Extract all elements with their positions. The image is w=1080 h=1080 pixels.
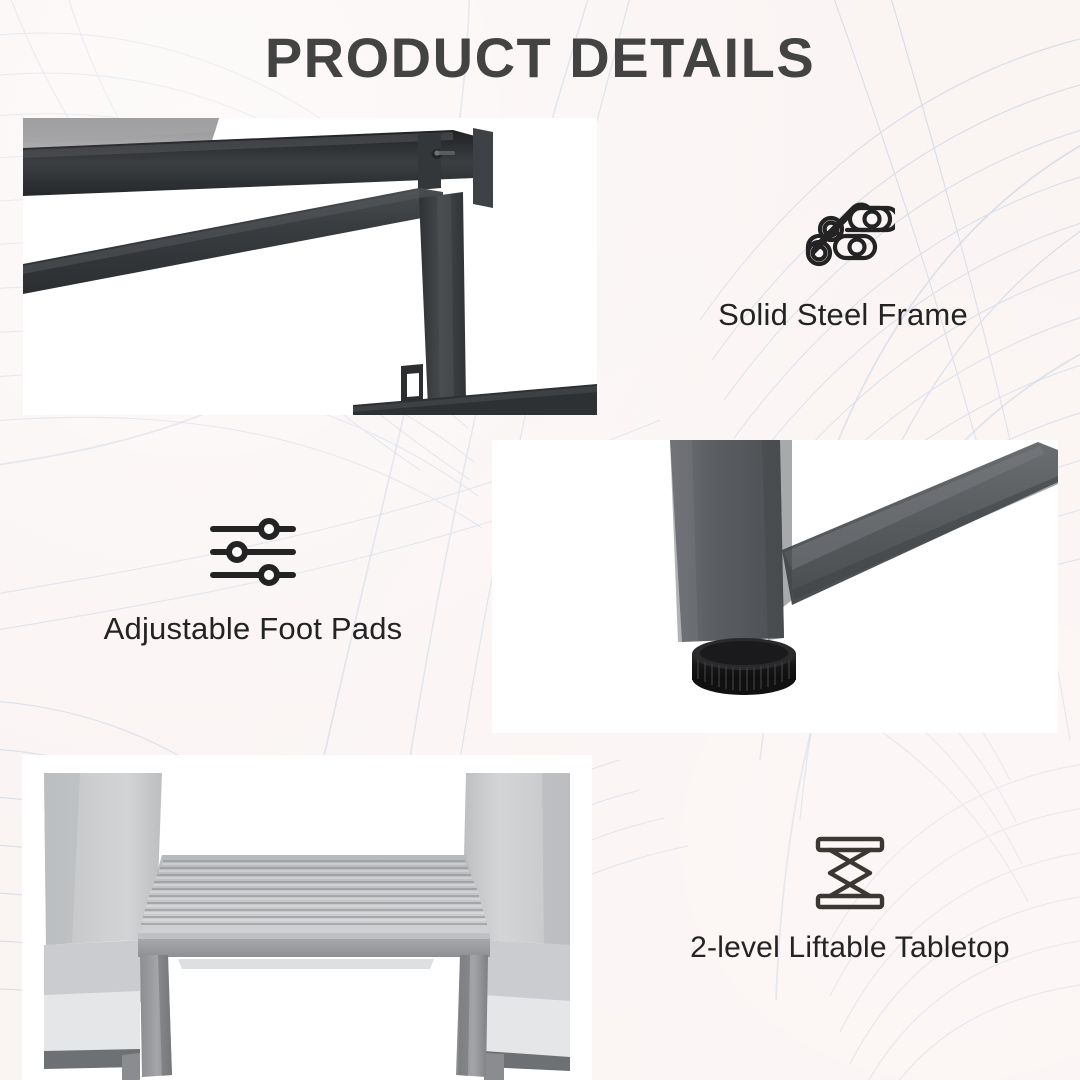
steel-tubes-icon [791,195,895,279]
feature-adjustable-foot-pads: Adjustable Foot Pads [73,515,433,647]
feature-liftable-tabletop: 2-level Liftable Tabletop [655,833,1045,965]
page-title: PRODUCT DETAILS [265,30,815,86]
feature-label-solid-steel-frame: Solid Steel Frame [718,297,968,333]
feature-label-adjustable-foot-pads: Adjustable Foot Pads [104,611,403,647]
feature-label-liftable-tabletop: 2-level Liftable Tabletop [690,931,1010,965]
foot-pad-photo [492,440,1058,733]
liftable-tabletop-photo [22,755,592,1080]
sliders-icon [207,515,299,589]
steel-frame-photo [23,118,597,415]
title-bar: PRODUCT DETAILS [0,0,1080,116]
scissor-lift-icon [808,833,892,913]
feature-solid-steel-frame: Solid Steel Frame [663,195,1023,333]
